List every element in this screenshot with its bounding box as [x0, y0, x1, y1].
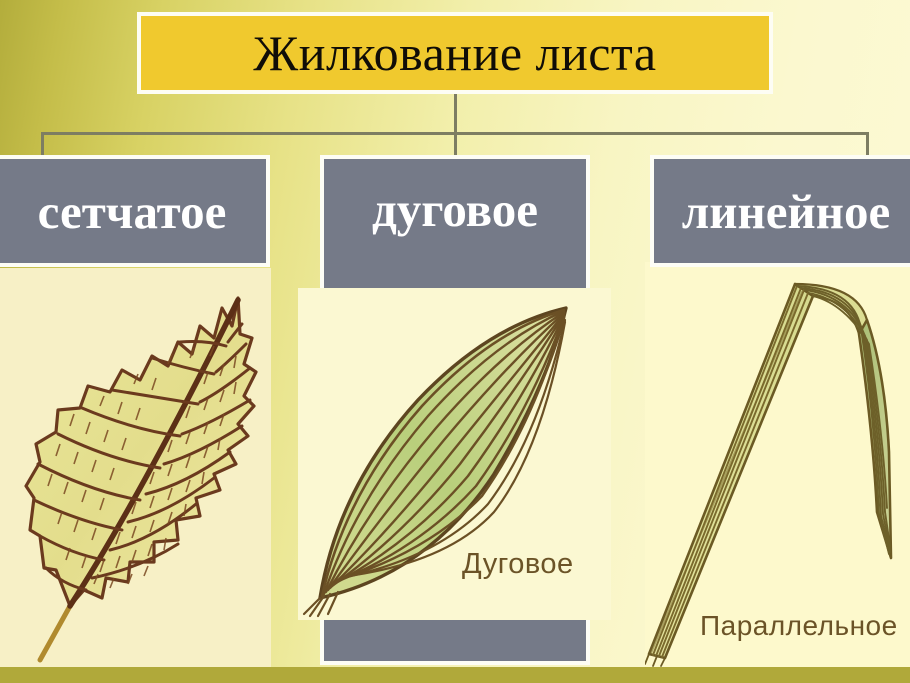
category-label-lineynoe: линейное — [682, 187, 890, 236]
bottom-accent-strip — [0, 667, 910, 683]
netted-leaf-illustration — [0, 268, 271, 668]
category-box-lineynoe: линейное — [650, 155, 910, 267]
connector-title-stem — [454, 94, 457, 134]
category-label-dugovoe: дуговое — [372, 185, 538, 234]
parallel-leaf-illustration — [645, 262, 910, 668]
connector-drop-left — [41, 132, 44, 157]
connector-drop-right — [866, 132, 869, 157]
category-box-setchatoe: сетчатое — [0, 155, 270, 267]
slide-canvas: Жилкование листа дуговое — [0, 0, 910, 683]
caption-dugovoe: Дуговое — [462, 548, 574, 581]
connector-drop-middle — [454, 132, 457, 157]
caption-parallelnoe: Параллельное — [700, 610, 898, 642]
slide-title-box: Жилкование листа — [137, 12, 773, 94]
page-title: Жилкование листа — [253, 28, 656, 78]
category-label-setchatoe: сетчатое — [38, 187, 227, 236]
